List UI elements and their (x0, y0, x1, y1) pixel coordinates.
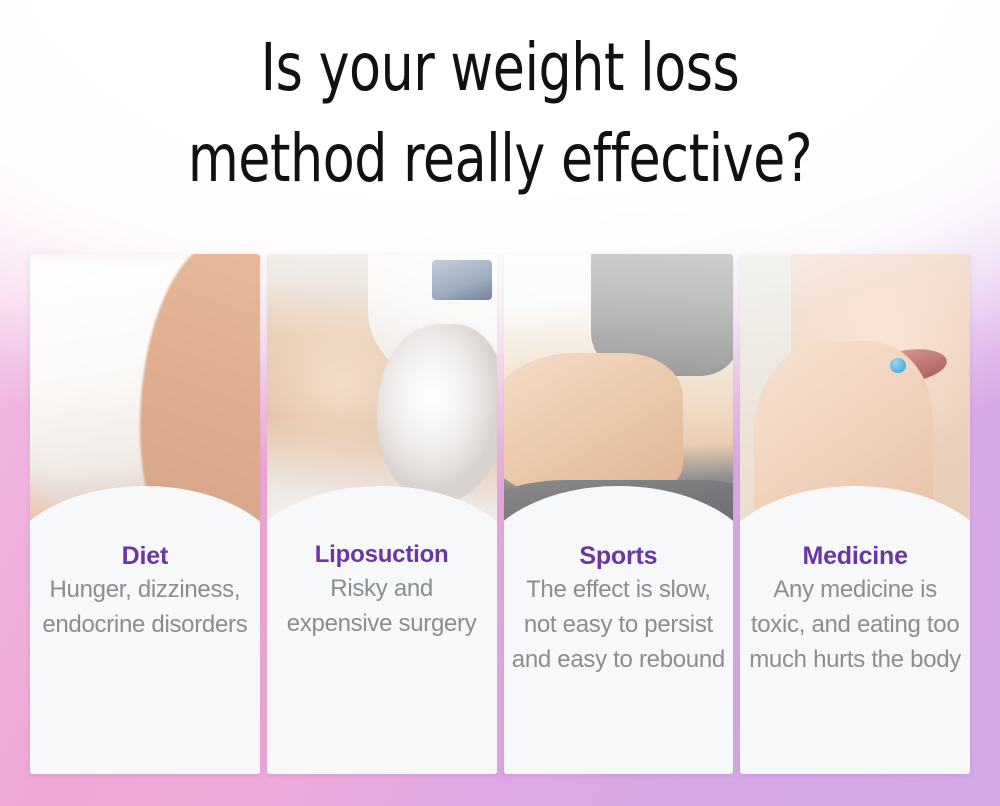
card-liposuction[interactable]: Liposuction Risky and expensive surgery (267, 254, 497, 774)
page-title: Is your weight loss method really effect… (0, 22, 1000, 204)
card-description-medicine: Any medicine is toxic, and eating too mu… (748, 573, 962, 677)
card-description-liposuction: Risky and expensive surgery (275, 572, 489, 642)
card-text-sports: Sports The effect is slow, not easy to p… (504, 540, 734, 677)
card-text-medicine: Medicine Any medicine is toxic, and eati… (740, 540, 970, 677)
card-sports[interactable]: Sports The effect is slow, not easy to p… (504, 254, 734, 774)
card-medicine[interactable]: Medicine Any medicine is toxic, and eati… (740, 254, 970, 774)
card-title-liposuction: Liposuction (275, 540, 489, 571)
headline-line-2: method really effective? (60, 113, 940, 204)
infographic-poster: Is your weight loss method really effect… (0, 0, 1000, 806)
card-description-sports: The effect is slow, not easy to persist … (512, 573, 726, 677)
card-text-diet: Diet Hunger, dizziness, endocrine disord… (30, 540, 260, 643)
card-description-diet: Hunger, dizziness, endocrine disorders (38, 573, 252, 643)
card-title-medicine: Medicine (748, 540, 962, 572)
card-diet[interactable]: Diet Hunger, dizziness, endocrine disord… (30, 254, 260, 774)
card-title-diet: Diet (38, 540, 252, 572)
card-text-liposuction: Liposuction Risky and expensive surgery (267, 540, 497, 641)
card-title-sports: Sports (512, 540, 726, 572)
card-row: Diet Hunger, dizziness, endocrine disord… (30, 254, 970, 774)
headline-line-1: Is your weight loss (60, 22, 940, 113)
